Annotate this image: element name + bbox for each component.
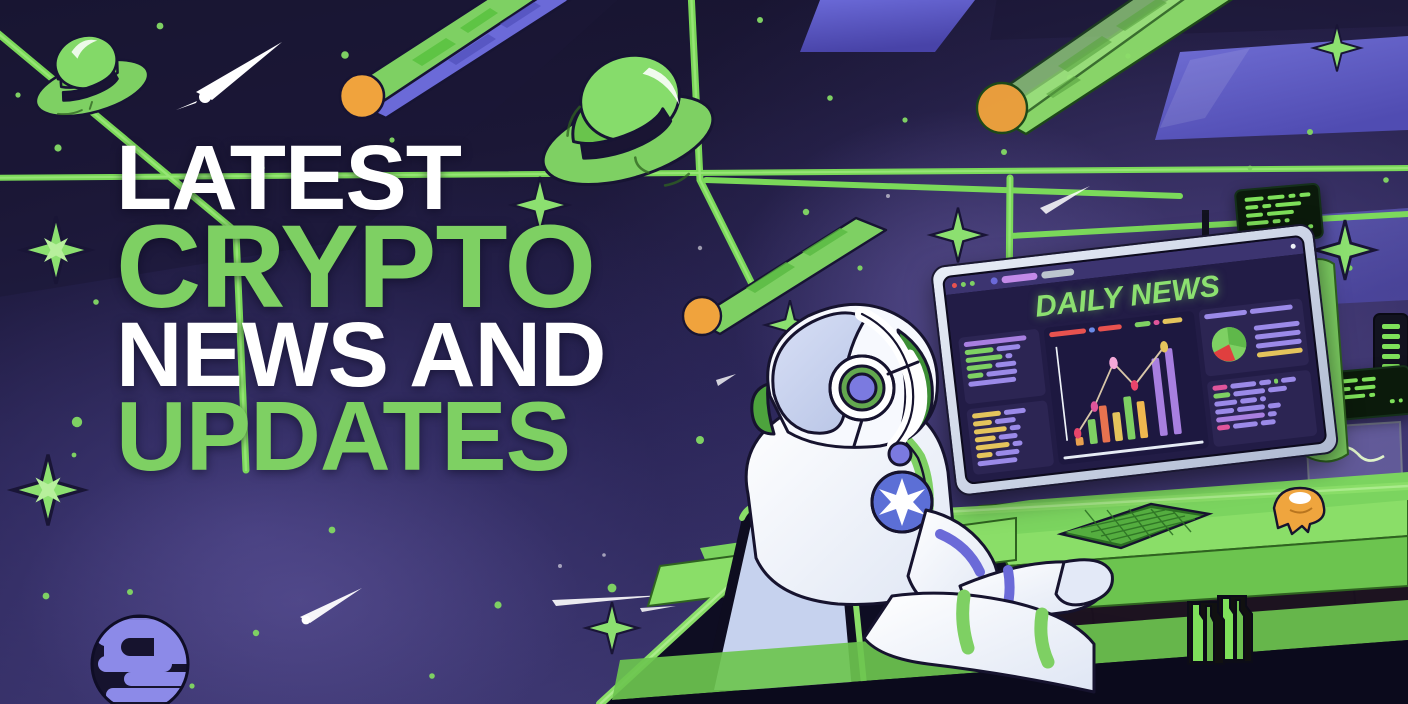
browser-tab-active[interactable]: [1001, 272, 1038, 283]
page-title: LATEST CRYPTO NEWS AND UPDATES: [116, 140, 736, 478]
green-bottles: [1178, 588, 1264, 668]
window-menu-dot[interactable]: [1290, 244, 1296, 250]
window-close-dot[interactable]: [952, 283, 958, 289]
right-bottom-card[interactable]: [1207, 370, 1318, 447]
browser-tab[interactable]: [990, 277, 998, 285]
keyboard[interactable]: [1055, 498, 1215, 558]
astronaut-at-desk: [712, 296, 1112, 704]
pie-chart: [1205, 320, 1253, 368]
headline-line-2: CRYPTO: [116, 218, 736, 318]
panel-right: [1199, 298, 1318, 447]
right-top-card[interactable]: [1199, 298, 1310, 377]
orange-desk-object: [1262, 482, 1334, 538]
window-max-dot[interactable]: [970, 281, 976, 287]
window-min-dot[interactable]: [961, 282, 967, 288]
headline-line-4: UPDATES: [116, 395, 736, 478]
poster-canvas: DAILY NEWS: [0, 0, 1408, 704]
browser-address-bar[interactable]: [1041, 268, 1075, 279]
